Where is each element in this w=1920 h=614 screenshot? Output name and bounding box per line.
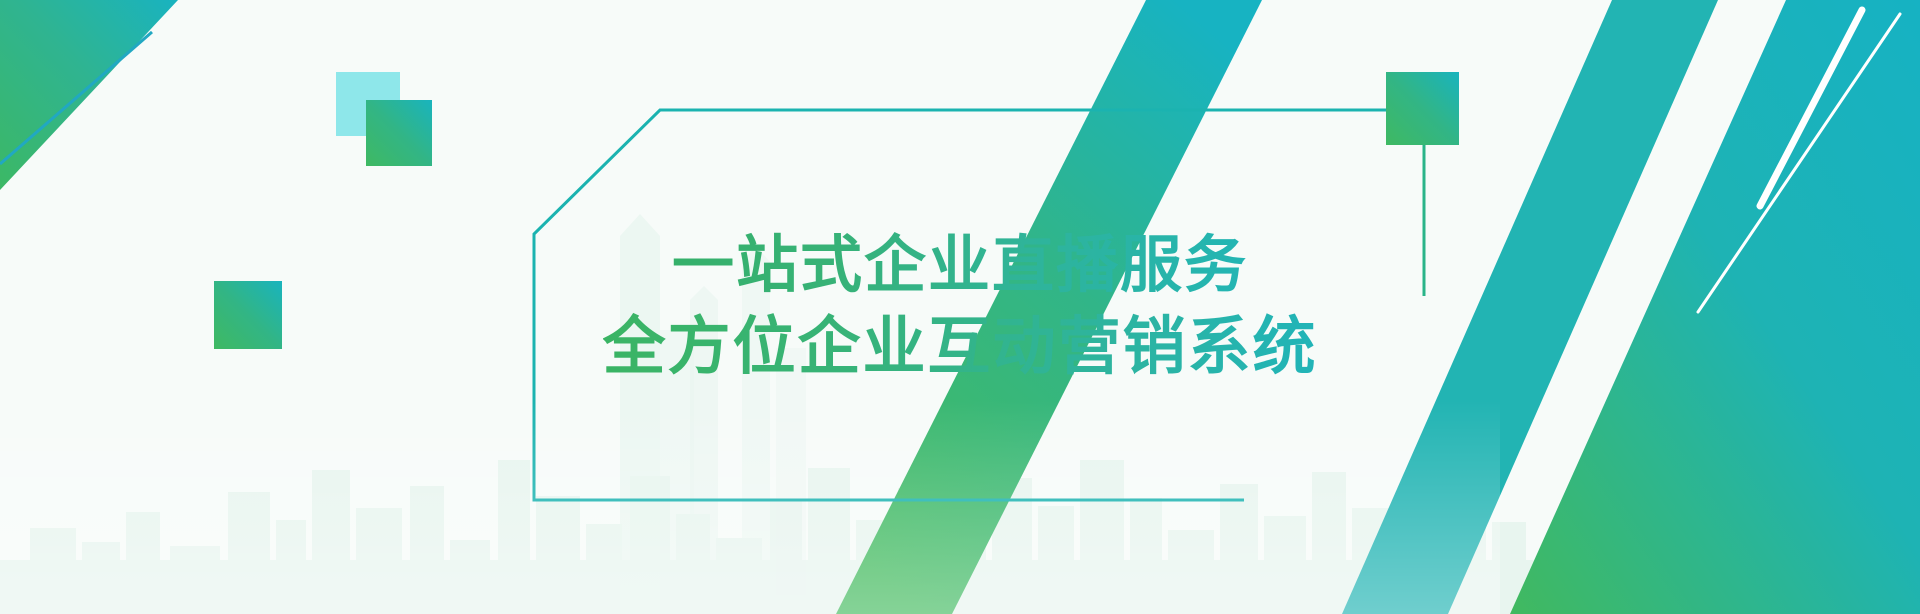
square-gradient-frame — [1386, 72, 1459, 145]
marketing-banner: 一站式企业直播服务 全方位企业互动营销系统 — [0, 0, 1920, 614]
bottom-haze — [0, 400, 1500, 614]
square-gradient-left — [214, 281, 282, 349]
banner-background-graphics — [0, 0, 1920, 614]
square-gradient-small — [366, 100, 432, 166]
